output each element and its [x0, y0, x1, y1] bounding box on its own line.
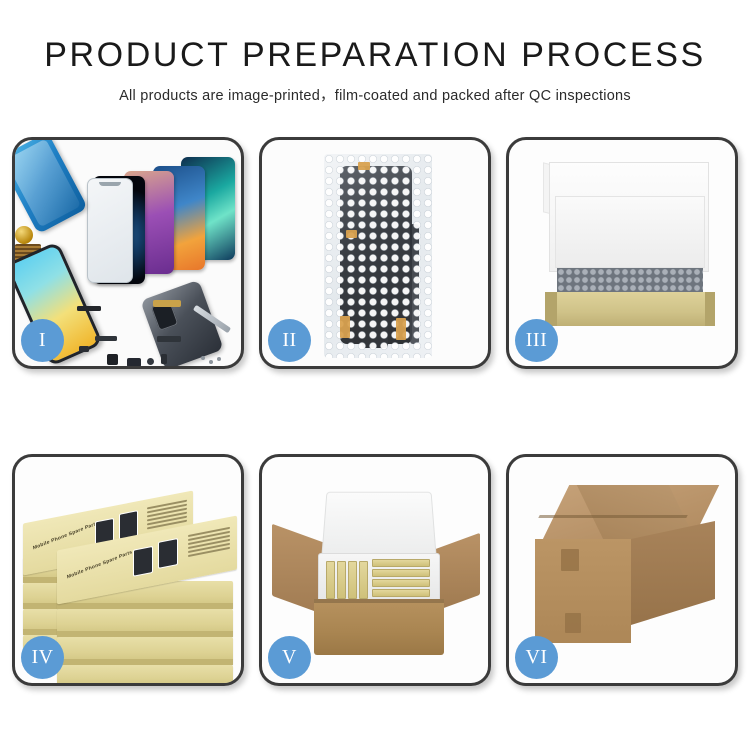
step-badge-2: II [268, 319, 311, 362]
process-step-panel-1: I [12, 137, 244, 369]
box-label-front: Mobile Phone Spare Parts [66, 549, 132, 580]
part-strip [77, 306, 101, 311]
packed-box-3 [348, 561, 357, 599]
carton-tape-upper [561, 549, 579, 571]
packed-retail-boxes [326, 557, 432, 599]
step-badge-3: III [515, 319, 558, 362]
part-flex-cable-a [157, 336, 181, 342]
tape-b [346, 230, 357, 238]
header: PRODUCT PREPARATION PROCESS All products… [0, 0, 750, 105]
carton-side-face [631, 521, 715, 625]
stack-box-front-3 [57, 637, 233, 665]
step-badge-5: V [268, 636, 311, 679]
process-step-panel-4: Mobile Phone Spare Parts Mobile Phone Sp… [12, 454, 244, 686]
part-misc-b [79, 346, 89, 352]
foam-sheet [555, 196, 705, 268]
page-title: PRODUCT PREPARATION PROCESS [0, 38, 750, 74]
stack-box-front-2 [57, 665, 233, 683]
part-misc-a [161, 354, 167, 364]
tape-a [358, 162, 370, 170]
step-badge-6: VI [515, 636, 558, 679]
carton-tape-lower [565, 613, 581, 633]
process-step-panel-6: VI [506, 454, 738, 686]
process-step-grid: I II [12, 137, 738, 686]
styrofoam-lid [321, 492, 436, 558]
screen-protector [87, 178, 133, 283]
tape-d [396, 318, 406, 340]
step-badge-1: I [21, 319, 64, 362]
part-speaker [127, 358, 141, 366]
part-gold-disc [15, 226, 33, 244]
carton-front-face [535, 539, 631, 643]
part-button [147, 358, 154, 365]
adhesive-film [15, 140, 88, 234]
packed-box-8 [372, 589, 430, 597]
packed-box-7 [372, 579, 430, 587]
tape-c [340, 316, 350, 338]
kraft-box-base [545, 292, 715, 326]
carton-body [314, 599, 444, 655]
box-phone-image-front-2 [158, 538, 178, 569]
process-step-panel-5: V [259, 454, 491, 686]
packed-box-2 [337, 561, 346, 599]
part-flex-cable-gold [153, 300, 181, 307]
phone-back-housing [140, 280, 224, 366]
packed-box-6 [372, 569, 430, 577]
process-step-panel-2: II [259, 137, 491, 369]
packed-box-1 [326, 561, 335, 599]
box-phone-image-front-1 [133, 546, 153, 577]
step-badge-4: IV [21, 636, 64, 679]
stack-box-front-4 [57, 609, 233, 637]
part-flex-cable-b [95, 336, 117, 341]
process-step-panel-3: III [506, 137, 738, 369]
carton-top-seam [538, 515, 687, 518]
packed-box-4 [359, 561, 368, 599]
part-camera-module [107, 354, 118, 365]
screws-group [201, 356, 223, 366]
box-spec-lines-front [188, 527, 230, 559]
page-subtitle: All products are image-printed，film-coat… [0, 84, 750, 105]
packed-box-5 [372, 559, 430, 567]
product-preparation-infographic: PRODUCT PREPARATION PROCESS All products… [0, 0, 750, 750]
